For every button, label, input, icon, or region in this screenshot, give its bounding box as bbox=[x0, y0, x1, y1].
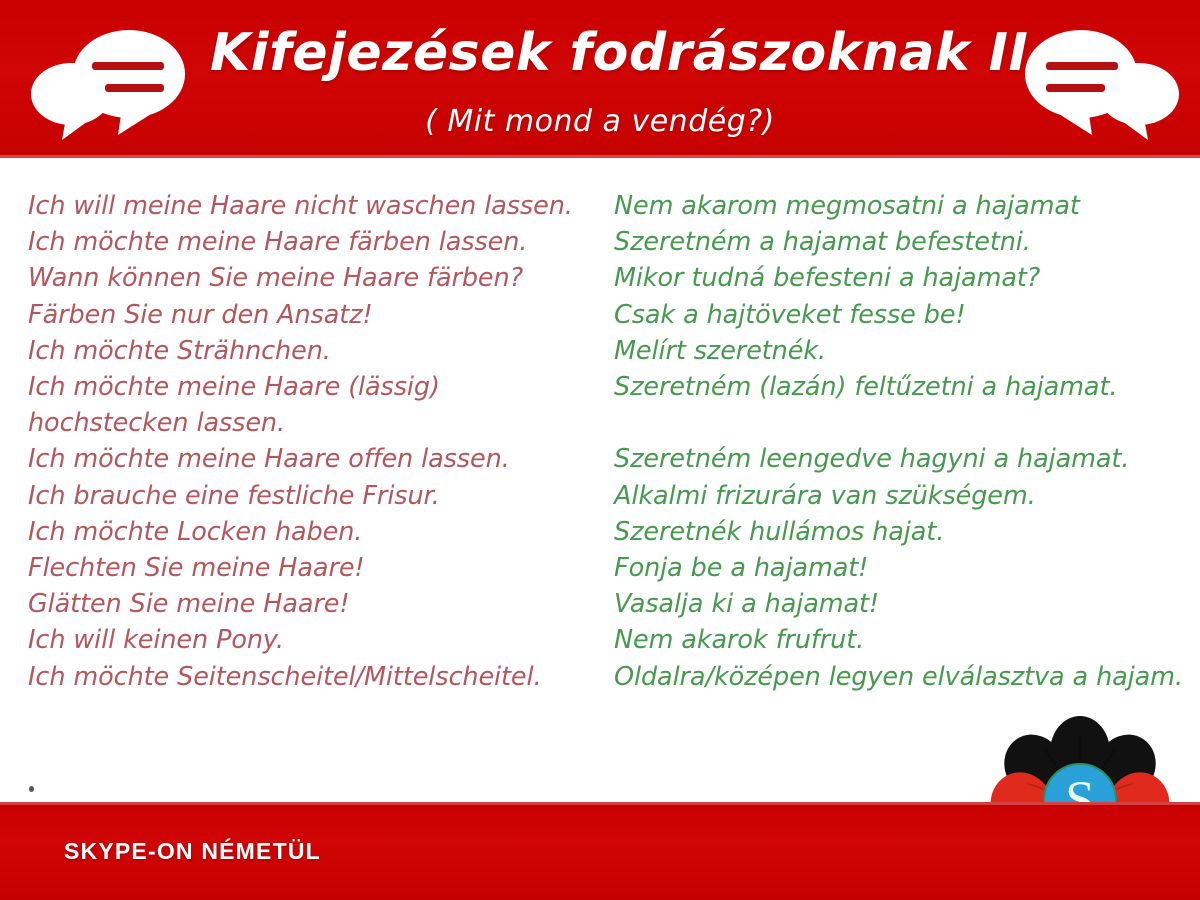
german-phrase: Glätten Sie meine Haare! bbox=[28, 586, 588, 622]
speech-bubbles-icon bbox=[26, 22, 202, 140]
german-phrase: Ich will meine Haare nicht waschen lasse… bbox=[28, 188, 588, 224]
stray-dot-mark bbox=[29, 786, 34, 792]
hungarian-phrase: Nem akarom megmosatni a hajamat bbox=[614, 188, 1189, 224]
german-phrase: Ich möchte meine Haare (lässig) bbox=[28, 369, 588, 405]
speech-bubbles-icon bbox=[1008, 22, 1184, 140]
german-phrase: Ich will keinen Pony. bbox=[28, 622, 588, 658]
footer-bar: SKYPE-ON NÉMETÜL bbox=[0, 802, 1200, 900]
german-phrase: Ich möchte Locken haben. bbox=[28, 514, 588, 550]
german-phrase: Ich möchte meine Haare färben lassen. bbox=[28, 224, 588, 260]
german-phrase: Wann können Sie meine Haare färben? bbox=[28, 260, 588, 296]
hungarian-phrase: Vasalja ki a hajamat! bbox=[614, 586, 1189, 622]
german-phrase: hochstecken lassen. bbox=[28, 405, 588, 441]
page-subtitle: ( Mit mond a vendég?) bbox=[210, 104, 990, 139]
page-title: Kifejezések fodrászoknak II. bbox=[210, 26, 990, 81]
brand-name: SKYPE-ON NÉMETÜL bbox=[64, 838, 321, 865]
hungarian-phrase: Melírt szeretnék. bbox=[614, 333, 1189, 369]
hungarian-phrase: Szeretnék hullámos hajat. bbox=[614, 514, 1189, 550]
hungarian-phrase-column: Nem akarom megmosatni a hajamat Szeretné… bbox=[614, 188, 1189, 695]
hungarian-phrase: Csak a hajtöveket fesse be! bbox=[614, 297, 1189, 333]
german-phrase-column: Ich will meine Haare nicht waschen lasse… bbox=[28, 188, 588, 695]
hungarian-phrase: Szeretném a hajamat befestetni. bbox=[614, 224, 1189, 260]
phrase-table: Ich will meine Haare nicht waschen lasse… bbox=[0, 158, 1200, 802]
hungarian-phrase: Szeretném (lazán) feltűzetni a hajamat. bbox=[614, 369, 1189, 405]
hungarian-phrase: Fonja be a hajamat! bbox=[614, 550, 1189, 586]
hungarian-phrase: Mikor tudná befesteni a hajamat? bbox=[614, 260, 1189, 296]
hungarian-phrase: Oldalra/középen legyen elválasztva a haj… bbox=[614, 659, 1189, 695]
german-phrase: Ich brauche eine festliche Frisur. bbox=[28, 478, 588, 514]
german-phrase: Ich möchte Seitenscheitel/Mittelscheitel… bbox=[28, 659, 588, 695]
hungarian-phrase: Szeretném leengedve hagyni a hajamat. bbox=[614, 441, 1189, 477]
german-phrase: Ich möchte meine Haare offen lassen. bbox=[28, 441, 588, 477]
german-phrase: Färben Sie nur den Ansatz! bbox=[28, 297, 588, 333]
header-bar: Kifejezések fodrászoknak II. ( Mit mond … bbox=[0, 0, 1200, 158]
german-phrase: Ich möchte Strähnchen. bbox=[28, 333, 588, 369]
german-phrase: Flechten Sie meine Haare! bbox=[28, 550, 588, 586]
hungarian-phrase: Alkalmi frizurára van szükségem. bbox=[614, 478, 1189, 514]
poster-canvas: Kifejezések fodrászoknak II. ( Mit mond … bbox=[0, 0, 1200, 900]
hungarian-phrase: Nem akarok frufrut. bbox=[614, 622, 1189, 658]
